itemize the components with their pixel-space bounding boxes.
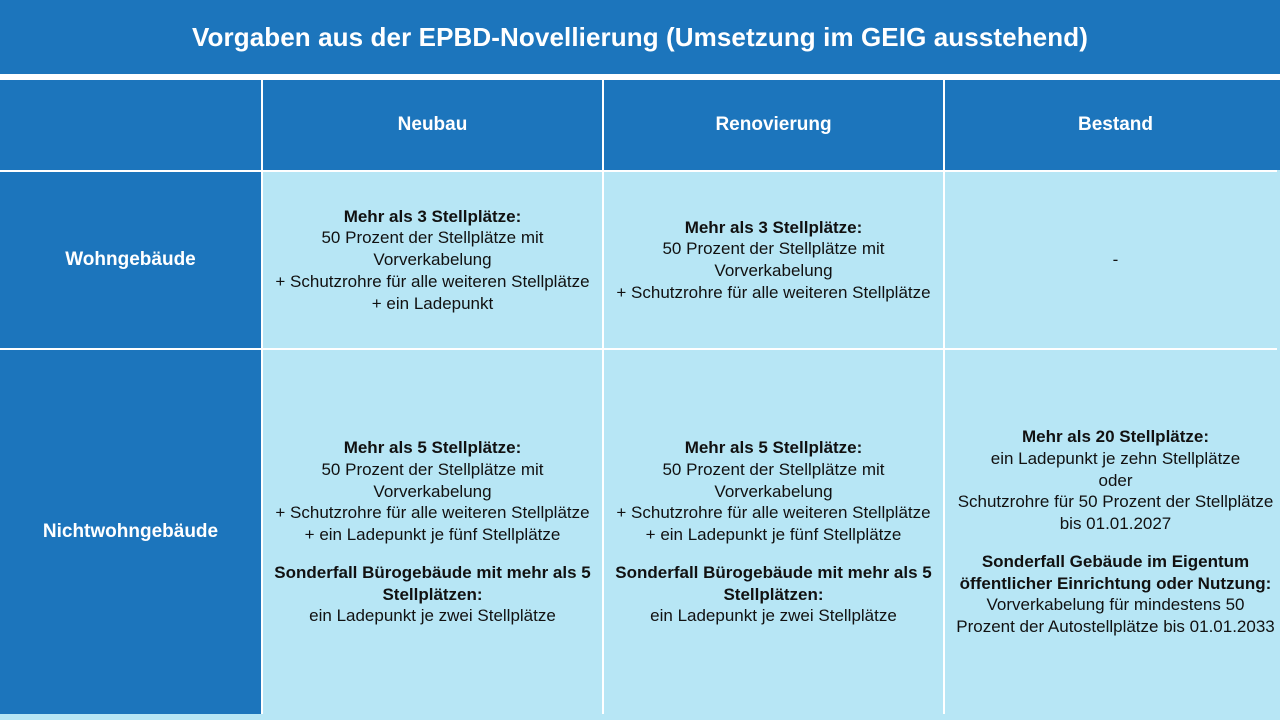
cell-lines: Mehr als 5 Stellplätze:50 Prozent der St… — [273, 437, 592, 627]
cell-line: 50 Prozent der Stellplätze mit Vorverkab… — [273, 459, 592, 503]
cell-line: + ein Ladepunkt je fünf Stellplätze — [614, 524, 933, 546]
column-header-neubau: Neubau — [263, 80, 602, 170]
cell-line: 50 Prozent der Stellplätze mit Vorverkab… — [614, 459, 933, 503]
cell-line-spacer — [273, 546, 592, 562]
cell-line: Sonderfall Gebäude im Eigentum öffentlic… — [955, 551, 1276, 595]
cell-nichtwohngebaeude-neubau: Mehr als 5 Stellplätze:50 Prozent der St… — [263, 350, 602, 714]
cell-line: + ein Ladepunkt je fünf Stellplätze — [273, 524, 592, 546]
cell-line: + Schutzrohre für alle weiteren Stellplä… — [273, 271, 592, 293]
cell-line: ein Ladepunkt je zehn Stellplätze — [955, 448, 1276, 470]
cell-line: ein Ladepunkt je zwei Stellplätze — [273, 605, 592, 627]
cell-lines: Mehr als 5 Stellplätze:50 Prozent der St… — [614, 437, 933, 627]
table-corner-cell — [0, 80, 261, 170]
cell-nichtwohngebaeude-bestand: Mehr als 20 Stellplätze:ein Ladepunkt je… — [945, 350, 1280, 714]
column-header-renovierung: Renovierung — [604, 80, 943, 170]
requirements-table: Neubau Renovierung Bestand Wohngebäude M… — [0, 80, 1280, 720]
cell-line: - — [955, 249, 1276, 271]
cell-wohngebaeude-neubau: Mehr als 3 Stellplätze:50 Prozent der St… — [263, 172, 602, 348]
cell-line: Mehr als 3 Stellplätze: — [273, 206, 592, 228]
poster-title-bar: Vorgaben aus der EPBD-Novellierung (Umse… — [0, 0, 1280, 74]
cell-line: Mehr als 3 Stellplätze: — [614, 217, 933, 239]
cell-line: Schutzrohre für 50 Prozent der Stellplät… — [955, 491, 1276, 513]
cell-line: Vorverkabelung für mindestens 50 Prozent… — [955, 594, 1276, 638]
cell-line: + ein Ladepunkt — [273, 293, 592, 315]
row-label-wohngebaeude: Wohngebäude — [0, 172, 261, 348]
cell-line-spacer — [614, 546, 933, 562]
cell-line: Sonderfall Bürogebäude mit mehr als 5 St… — [614, 562, 933, 606]
cell-line: oder — [955, 470, 1276, 492]
row-label-nichtwohngebaeude: Nichtwohngebäude — [0, 350, 261, 714]
cell-nichtwohngebaeude-renovierung: Mehr als 5 Stellplätze:50 Prozent der St… — [604, 350, 943, 714]
cell-line: Mehr als 20 Stellplätze: — [955, 426, 1276, 448]
cell-line: Mehr als 5 Stellplätze: — [614, 437, 933, 459]
epbd-requirements-poster: Vorgaben aus der EPBD-Novellierung (Umse… — [0, 0, 1280, 720]
cell-line: + Schutzrohre für alle weiteren Stellplä… — [614, 502, 933, 524]
cell-lines: Mehr als 20 Stellplätze:ein Ladepunkt je… — [955, 426, 1276, 638]
cell-line: 50 Prozent der Stellplätze mit Vorverkab… — [273, 227, 592, 271]
cell-line-spacer — [955, 535, 1276, 551]
cell-wohngebaeude-renovierung: Mehr als 3 Stellplätze:50 Prozent der St… — [604, 172, 943, 348]
cell-wohngebaeude-bestand: - — [945, 172, 1280, 348]
cell-line: + Schutzrohre für alle weiteren Stellplä… — [273, 502, 592, 524]
cell-line: Mehr als 5 Stellplätze: — [273, 437, 592, 459]
cell-lines: Mehr als 3 Stellplätze:50 Prozent der St… — [273, 206, 592, 315]
cell-line: 50 Prozent der Stellplätze mit Vorverkab… — [614, 238, 933, 282]
column-header-bestand: Bestand — [945, 80, 1280, 170]
cell-line: ein Ladepunkt je zwei Stellplätze — [614, 605, 933, 627]
cell-line: Sonderfall Bürogebäude mit mehr als 5 St… — [273, 562, 592, 606]
cell-lines: - — [955, 249, 1276, 271]
cell-line: bis 01.01.2027 — [955, 513, 1276, 535]
cell-line: + Schutzrohre für alle weiteren Stellplä… — [614, 282, 933, 304]
page-title: Vorgaben aus der EPBD-Novellierung (Umse… — [192, 23, 1088, 52]
cell-lines: Mehr als 3 Stellplätze:50 Prozent der St… — [614, 217, 933, 304]
